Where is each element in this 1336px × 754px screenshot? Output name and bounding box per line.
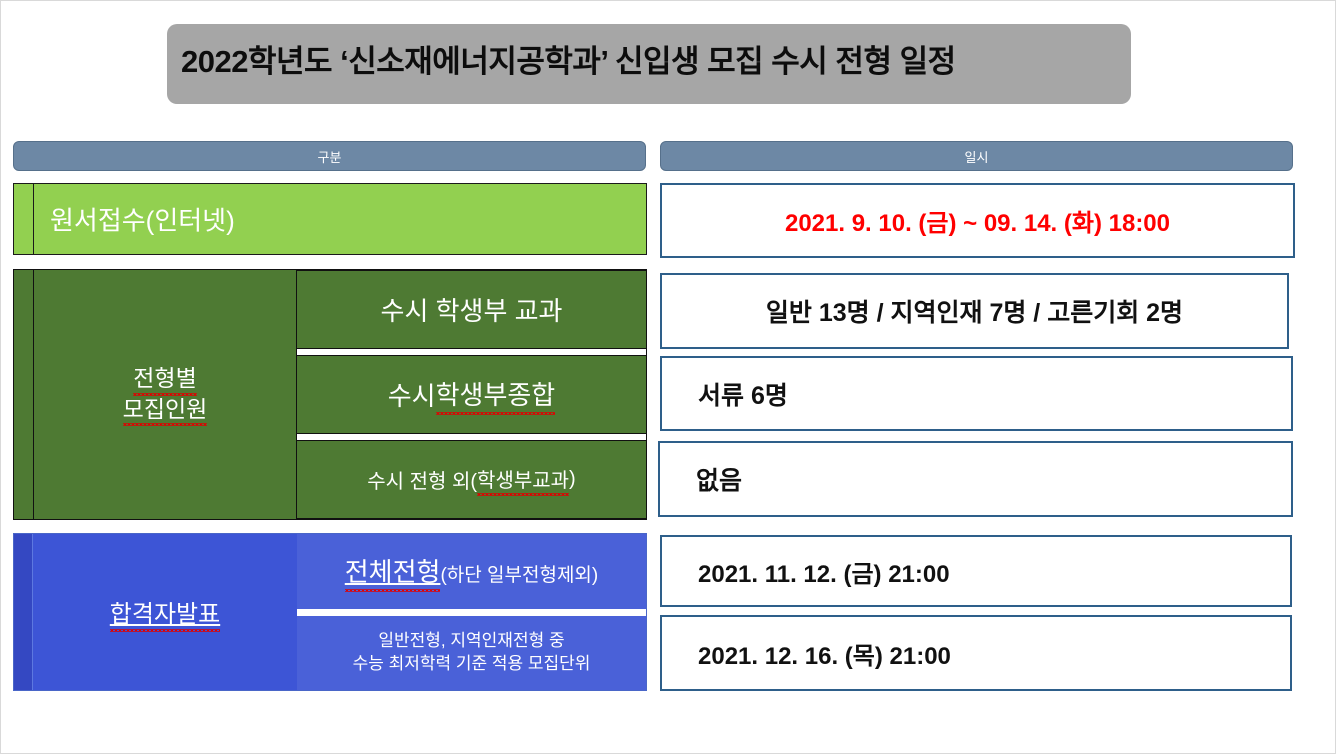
row-announcement-label: 합격자발표	[34, 534, 296, 690]
subrow-susi-other-prefix: 수시 전형 외(	[367, 465, 477, 494]
subrow-susi-gyogwa-value: 일반 13명 / 지역인재 7명 / 고른기회 2명	[662, 293, 1287, 329]
subrow-susi-gyogwa-label: 수시 학생부 교과	[381, 291, 563, 328]
row-application-label-block: 원서접수(인터넷)	[13, 183, 647, 255]
row-quota-label-line1: 전형별	[133, 364, 196, 395]
row-quota-subrow-list: 수시 학생부 교과 수시 학생부종합 수시 전형 외(학생부교과)	[297, 270, 646, 519]
slide-canvas: 2022학년도 ‘신소재에너지공학과’ 신입생 모집 수시 전형 일정 구분 일…	[0, 0, 1336, 754]
subrow-susi-jonghap-marked: 학생부종합	[436, 375, 556, 414]
subrow-all-types-label: 전체전형	[345, 552, 441, 591]
row-application-label: 원서접수(인터넷)	[50, 201, 235, 238]
row-announcement-label-text: 합격자발표	[110, 594, 220, 631]
title-banner: 2022학년도 ‘신소재에너지공학과’ 신입생 모집 수시 전형 일정	[167, 24, 1131, 104]
row-quota-label-line2: 모집인원	[123, 395, 208, 426]
subrow-susi-other: 수시 전형 외(학생부교과)	[297, 440, 646, 519]
subrow-susi-other-tail: )	[569, 468, 576, 491]
row-quota-label: 전형별 모집인원	[34, 270, 296, 519]
row-announcement-subrow-list: 전체전형(하단 일부전형제외) 일반전형, 지역인재전형 중 수능 최저학력 기…	[297, 534, 646, 690]
column-header-datetime-label: 일시	[965, 147, 989, 166]
subrow-susi-gyogwa: 수시 학생부 교과	[297, 270, 646, 349]
row-application-value-box: 2021. 9. 10. (금) ~ 09. 14. (화) 18:00	[660, 183, 1295, 258]
row-quota-label-block: 전형별 모집인원 수시 학생부 교과 수시 학생부종합 수시 전형 외(학생부교…	[13, 269, 647, 520]
column-header-datetime: 일시	[660, 141, 1293, 171]
subrow-min-score: 일반전형, 지역인재전형 중 수능 최저학력 기준 적용 모집단위	[297, 616, 646, 691]
subrow-all-types: 전체전형(하단 일부전형제외)	[297, 534, 646, 609]
subrow-all-types-value: 2021. 11. 12. (금) 21:00	[662, 554, 1290, 589]
row-application-value: 2021. 9. 10. (금) ~ 09. 14. (화) 18:00	[662, 203, 1293, 238]
subrow-gap-3	[297, 609, 646, 616]
subrow-susi-other-value: 없음	[660, 461, 1291, 497]
row-application-divider	[33, 184, 34, 254]
subrow-susi-jonghap-prefix: 수시	[388, 376, 436, 413]
column-header-category: 구분	[13, 141, 646, 171]
row-announcement-label-block: 합격자발표 전체전형(하단 일부전형제외) 일반전형, 지역인재전형 중 수능 …	[13, 533, 647, 691]
page-title: 2022학년도 ‘신소재에너지공학과’ 신입생 모집 수시 전형 일정	[181, 36, 1121, 81]
subrow-min-score-value: 2021. 12. 16. (목) 21:00	[662, 636, 1290, 671]
subrow-susi-jonghap-value-box: 서류 6명	[660, 356, 1293, 431]
column-header-category-label: 구분	[318, 147, 342, 166]
subrow-all-types-note: (하단 일부전형제외)	[440, 565, 598, 586]
subrow-susi-gyogwa-value-box: 일반 13명 / 지역인재 7명 / 고른기회 2명	[660, 273, 1289, 349]
row-announcement-stripe	[14, 534, 33, 690]
subrow-all-types-value-box: 2021. 11. 12. (금) 21:00	[660, 535, 1292, 607]
subrow-susi-other-value-box: 없음	[658, 441, 1293, 517]
subrow-susi-other-marked: 학생부교과	[477, 464, 569, 495]
subrow-min-score-line1: 일반전형, 지역인재전형 중	[378, 631, 564, 650]
subrow-min-score-value-box: 2021. 12. 16. (목) 21:00	[660, 615, 1292, 691]
subrow-susi-jonghap-value: 서류 6명	[662, 376, 1291, 412]
subrow-susi-jonghap: 수시 학생부종합	[297, 355, 646, 434]
subrow-min-score-line2: 수능 최저학력 기준 적용 모집단위	[353, 654, 591, 673]
